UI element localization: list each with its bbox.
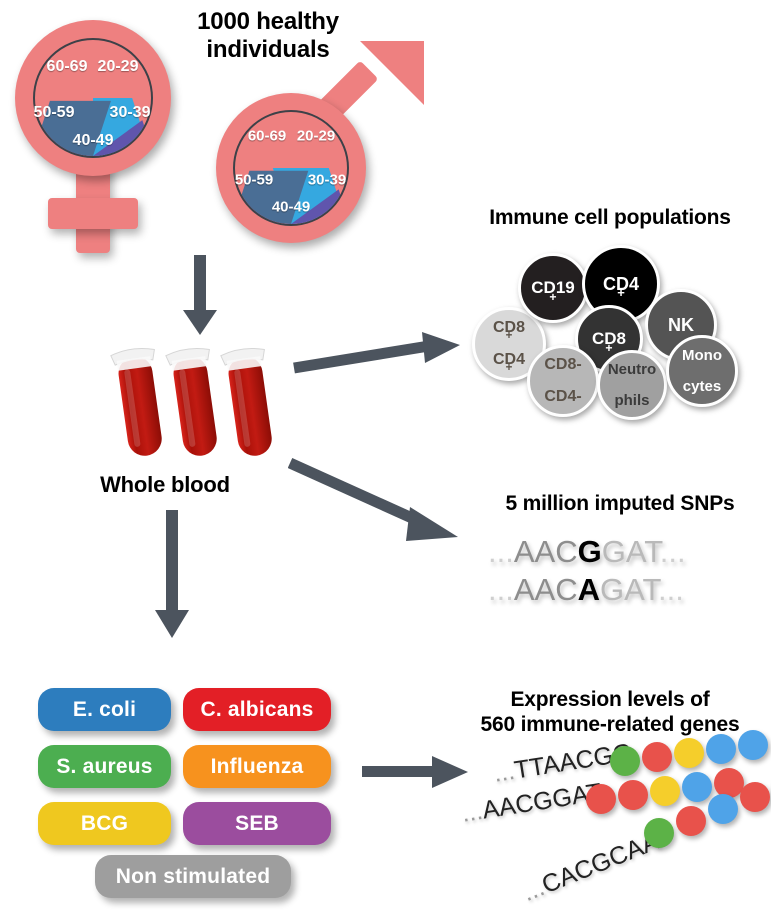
stimulus-label: C. albicans (200, 698, 313, 722)
expression-bead (644, 818, 674, 848)
stimulus-influenza[interactable]: Influenza (183, 745, 331, 788)
snp-dots-right: ... (660, 534, 686, 569)
expression-bead (642, 742, 672, 772)
snp-dots-left: ... (488, 534, 514, 569)
stimulus-bcg[interactable]: BCG (38, 802, 171, 845)
expression-bead (682, 772, 712, 802)
stimulus-c-albicans[interactable]: C. albicans (183, 688, 331, 731)
immune-cell-populations-heading: Immune cell populations (460, 206, 760, 231)
immune-cell-label: CD4+ (603, 275, 639, 293)
female-pie-label-50-59: 50-59 (34, 104, 75, 122)
male-pie-label-60-69: 60-69 (248, 128, 286, 145)
male-pie-label-20-29: 20-29 (297, 128, 335, 145)
arrow-cohort-to-blood (180, 255, 220, 337)
female-pie-label-30-39: 30-39 (110, 104, 151, 122)
stimulus-label: S. aureus (56, 755, 152, 779)
snp-dots-right: ... (658, 572, 684, 607)
snp-sequence-row-1: ...AACGGAT... (488, 534, 686, 570)
immune-cell-label: CD8+ CD4+ (493, 320, 525, 369)
female-pie-label-60-69: 60-69 (47, 58, 88, 76)
cohort-heading-line1: 1000 healthy (173, 8, 363, 36)
expression-bead (676, 806, 706, 836)
male-gender-symbol: 20-29 30-39 40-49 50-59 60-69 (210, 38, 430, 243)
male-pie-label-40-49: 40-49 (272, 199, 310, 216)
expression-bead (610, 746, 640, 776)
female-pie-label-20-29: 20-29 (98, 58, 139, 76)
male-pie-label-50-59: 50-59 (235, 172, 273, 189)
stimulus-s-aureus[interactable]: S. aureus (38, 745, 171, 788)
immune-cell-label: Mono cytes (682, 348, 722, 394)
immune-cell-label: CD8+ (592, 330, 626, 347)
snp-suffix: GAT (602, 534, 660, 569)
snp-prefix: AAC (514, 572, 578, 607)
expression-bead (738, 730, 768, 760)
arrow-blood-to-stimuli (150, 510, 194, 640)
immune-cell-monocytes: Mono cytes (666, 335, 738, 407)
expression-bead (650, 776, 680, 806)
snp-variant-allele: G (578, 534, 602, 569)
immune-cell-cluster: CD8+ CD4+ CD19+ CD4+ NK CD8+ CD8- C (470, 245, 760, 420)
immune-cell-label: CD19+ (531, 279, 574, 296)
immune-cell-cd8n-cd4n: CD8- CD4- (527, 345, 599, 417)
snp-prefix: AAC (514, 534, 578, 569)
whole-blood-label: Whole blood (75, 472, 255, 498)
expression-bead (708, 794, 738, 824)
male-pie-label-30-39: 30-39 (308, 172, 346, 189)
immune-cell-label: CD8- CD4- (544, 357, 581, 406)
snp-suffix: GAT (600, 572, 658, 607)
female-pie-label-40-49: 40-49 (73, 132, 114, 150)
stimulus-seb[interactable]: SEB (183, 802, 331, 845)
immune-cell-cd19p: CD19+ (518, 253, 588, 323)
figure-canvas: 1000 healthy individuals (0, 0, 771, 922)
strand-sequence-text: ...AACGGAT (460, 778, 604, 829)
whole-blood-tubes (100, 338, 290, 458)
expression-bead (706, 734, 736, 764)
expression-bead (674, 738, 704, 768)
snp-variant-allele: A (578, 572, 600, 607)
stimulus-non-stimulated[interactable]: Non stimulated (95, 855, 291, 898)
female-symbol-crossbar (48, 198, 138, 229)
snp-dots-left: ... (488, 572, 514, 607)
stimulus-label: Influenza (211, 755, 304, 779)
stimulus-label: E. coli (73, 698, 136, 722)
snps-heading: 5 million imputed SNPs (475, 492, 765, 517)
expression-bead (586, 784, 616, 814)
female-gender-symbol: 20-29 30-39 40-49 50-59 60-69 (8, 12, 188, 262)
stimulus-label: SEB (235, 812, 279, 836)
strand-sequence-text: ...CACGCAA (519, 827, 664, 908)
stimulus-e-coli[interactable]: E. coli (38, 688, 171, 731)
stimulus-label: Non stimulated (116, 865, 270, 889)
expression-bead (740, 782, 770, 812)
arrow-blood-to-immune-cells (292, 330, 462, 380)
expression-bead (618, 780, 648, 810)
snp-sequence-row-2: ...AACAGAT... (488, 572, 684, 608)
arrow-blood-to-snps (288, 455, 463, 545)
immune-cell-label: Neutro phils (608, 362, 656, 408)
arrow-stimuli-to-expression (362, 752, 472, 792)
expression-heading-line1: Expression levels of (455, 688, 765, 713)
stimulus-label: BCG (81, 812, 128, 836)
immune-cell-label: NK (668, 316, 694, 334)
immune-cell-neutrophils: Neutro phils (597, 350, 667, 420)
expression-heading: Expression levels of 560 immune-related … (455, 688, 765, 738)
